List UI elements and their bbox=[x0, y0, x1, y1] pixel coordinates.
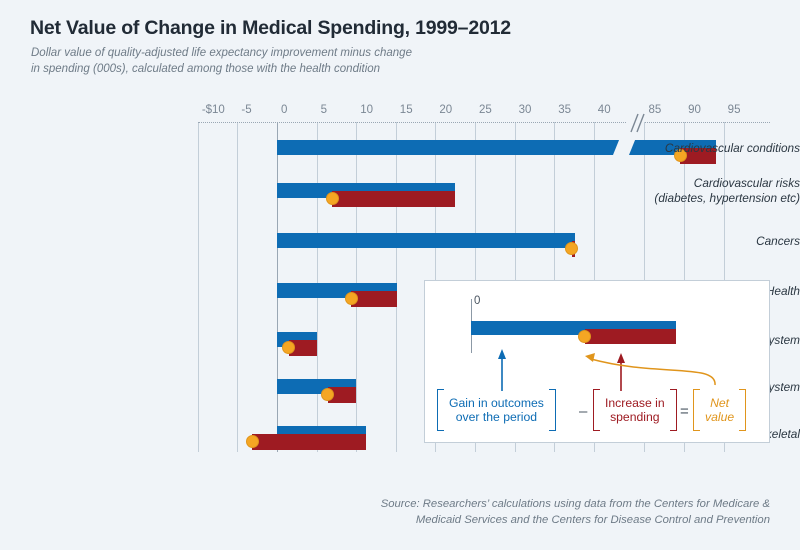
x-tick-label--5: -5 bbox=[237, 104, 251, 116]
net-value-dot[interactable] bbox=[565, 242, 578, 255]
bracket-right-gain bbox=[549, 389, 556, 431]
legend-term-gain: Gain in outcomes over the period bbox=[437, 389, 556, 431]
bracket-left-net bbox=[693, 389, 700, 431]
x-tick-label-95: 95 bbox=[724, 104, 741, 116]
axis-break-icon bbox=[622, 112, 648, 134]
x-tick-label-20: 20 bbox=[435, 104, 452, 116]
x-tick-label-25: 25 bbox=[475, 104, 492, 116]
bracket-left-spending bbox=[593, 389, 600, 431]
page-title: Net Value of Change in Medical Spending,… bbox=[30, 17, 511, 40]
spending-bar bbox=[252, 434, 366, 450]
x-tick-label-5: 5 bbox=[317, 104, 327, 116]
x-tick-label-35: 35 bbox=[554, 104, 571, 116]
legend-inset-panel: 0 Gain in outcomes over the period – Inc… bbox=[424, 280, 770, 443]
gridline--5 bbox=[237, 122, 238, 452]
spending-bar bbox=[332, 191, 455, 207]
source-note: Source: Researchers’ calculations using … bbox=[270, 497, 770, 528]
bracket-right-spending bbox=[670, 389, 677, 431]
gain-bar bbox=[277, 233, 575, 248]
x-tick-label-0: 0 bbox=[277, 104, 287, 116]
legend-term-spending: Increase in spending bbox=[593, 389, 677, 431]
subtitle-line-1: Dollar value of quality-adjusted life ex… bbox=[31, 47, 412, 59]
source-line-2: Medicaid Services and the Centers for Di… bbox=[416, 514, 770, 526]
chart-page: Net Value of Change in Medical Spending,… bbox=[0, 0, 800, 550]
source-line-1: Source: Researchers’ calculations using … bbox=[381, 498, 770, 510]
legend-term-net: Net value bbox=[693, 389, 746, 431]
legend-net-text: Net value bbox=[700, 396, 739, 425]
bracket-left-gain bbox=[437, 389, 444, 431]
gridline--10 bbox=[198, 122, 199, 452]
spending-bar bbox=[351, 291, 397, 307]
net-value-dot[interactable] bbox=[246, 435, 259, 448]
x-tick-label--10: -$10 bbox=[198, 104, 225, 116]
legend-equals-operator: = bbox=[680, 403, 689, 420]
x-tick-label-15: 15 bbox=[396, 104, 413, 116]
category-label: Cancers bbox=[612, 234, 800, 249]
net-value-dot[interactable] bbox=[345, 292, 358, 305]
axis-top-dotted-line bbox=[198, 122, 770, 123]
net-value-dot[interactable] bbox=[326, 192, 339, 205]
bracket-right-net bbox=[739, 389, 746, 431]
x-tick-label-90: 90 bbox=[684, 104, 701, 116]
subtitle-line-2: in spending (000s), calculated among tho… bbox=[31, 63, 380, 75]
legend-spending-text: Increase in spending bbox=[600, 396, 670, 425]
legend-minus-operator: – bbox=[579, 403, 587, 420]
legend-gain-text: Gain in outcomes over the period bbox=[444, 396, 549, 425]
page-subtitle: Dollar value of quality-adjusted life ex… bbox=[31, 46, 551, 77]
category-label: Cardiovascular risks(diabetes, hypertens… bbox=[612, 176, 800, 205]
x-tick-label-40: 40 bbox=[594, 104, 611, 116]
category-label: Cardiovascular conditions bbox=[612, 141, 800, 156]
x-tick-label-30: 30 bbox=[515, 104, 532, 116]
x-tick-label-10: 10 bbox=[356, 104, 373, 116]
